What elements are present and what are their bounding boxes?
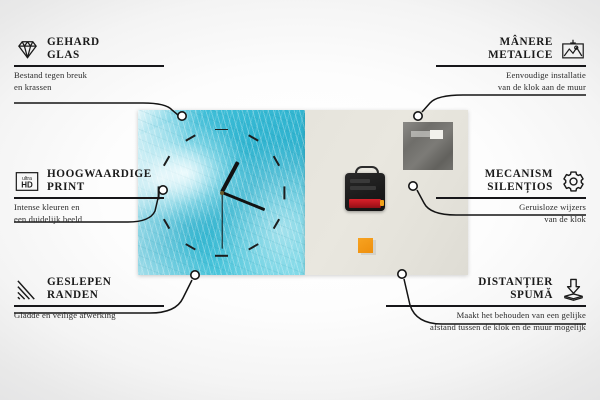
feature-description: Intense kleuren eneen duidelijk beeld xyxy=(14,202,219,225)
clock-tick xyxy=(284,186,286,199)
feature-title: MÂNEREMETALICE xyxy=(488,36,553,62)
feature-description: Eenvoudige installatievan de klok aan de… xyxy=(381,70,586,93)
clock-tick xyxy=(215,255,228,257)
feature-description: Gladde en veilige afwerking xyxy=(14,310,219,321)
feature-description: Geruisloze wijzersvan de klok xyxy=(381,202,586,225)
hour-hand xyxy=(220,161,240,193)
minute-hand xyxy=(221,191,265,211)
clock-tick xyxy=(273,219,280,229)
movement-slot-2 xyxy=(350,186,376,190)
feature-description: Maakt het behouden van een gelijkeafstan… xyxy=(331,310,586,333)
clock-tick xyxy=(163,156,170,166)
clock-tick xyxy=(215,129,228,131)
feature-distantier-spuma[interactable]: DISTANȚIERSPUMĂ Maakt het behouden van e… xyxy=(331,276,586,333)
title-underline xyxy=(436,65,586,66)
feature-title: GEHARDGLAS xyxy=(47,36,100,62)
title-underline xyxy=(14,65,164,66)
feature-description: Bestand tegen breuken krassen xyxy=(14,70,219,93)
quartz-movement xyxy=(345,173,385,211)
infographic-canvas: GEHARDGLAS Bestand tegen breuken krassen… xyxy=(0,0,600,400)
feature-geslepen-randen[interactable]: GESLEPENRANDEN Gladde en veilige afwerki… xyxy=(14,276,219,322)
gear-icon xyxy=(560,168,586,194)
feature-title: GESLEPENRANDEN xyxy=(47,276,112,302)
plate-label-white xyxy=(430,130,443,139)
title-underline xyxy=(14,197,164,198)
clock-tick xyxy=(248,134,258,141)
movement-slot-1 xyxy=(350,179,370,183)
clock-tick xyxy=(248,244,258,251)
foam-spacer xyxy=(358,238,373,253)
feature-gehard-glas[interactable]: GEHARDGLAS Bestand tegen breuken krassen xyxy=(14,36,219,93)
picture-frame-icon xyxy=(560,36,586,62)
title-underline xyxy=(436,197,586,198)
feature-hoogwaardige-print[interactable]: ultra HD HOOGWAARDIGEPRINT Intense kleur… xyxy=(14,168,219,225)
feature-mecanism-silentios[interactable]: MECANISMSILENȚIOS Geruisloze wijzersvan … xyxy=(381,168,586,225)
beveled-edge-icon xyxy=(14,276,40,302)
metal-plate xyxy=(403,122,453,170)
feature-manere-metalice[interactable]: MÂNEREMETALICE Eenvoudige installatievan… xyxy=(381,36,586,93)
battery xyxy=(349,199,381,208)
down-arrow-pad-icon xyxy=(560,276,586,302)
feature-title: DISTANȚIERSPUMĂ xyxy=(478,276,553,302)
feature-title: HOOGWAARDIGEPRINT xyxy=(47,168,152,194)
clock-center-pin xyxy=(220,191,224,195)
svg-text:HD: HD xyxy=(21,180,33,189)
diamond-icon xyxy=(14,36,40,62)
title-underline xyxy=(14,305,164,306)
title-underline xyxy=(386,305,586,306)
ultra-hd-icon: ultra HD xyxy=(14,168,40,194)
clock-tick xyxy=(185,134,195,141)
second-hand xyxy=(221,192,222,248)
feature-title: MECANISMSILENȚIOS xyxy=(485,168,553,194)
clock-tick xyxy=(185,244,195,251)
clock-tick xyxy=(273,156,280,166)
